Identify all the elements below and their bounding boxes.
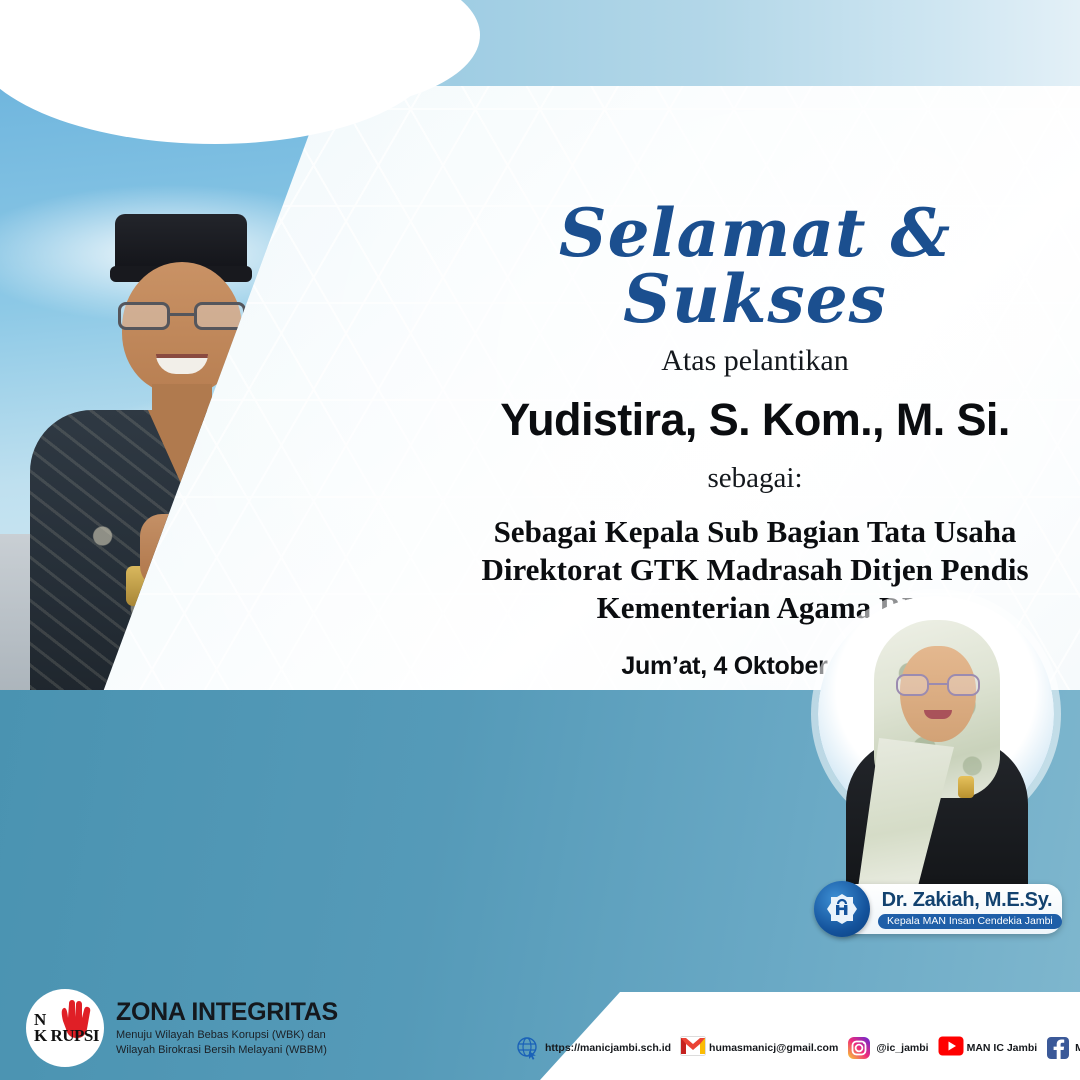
anti-korupsi-line-2: K RUPSI [34,1028,99,1044]
insan-cendekia-badge-icon [814,881,870,937]
position-line-2: Direktorat GTK Madrasah Ditjen Pendis [450,551,1060,589]
youtube-icon [938,1036,962,1060]
gmail-icon [680,1036,704,1060]
email-item[interactable]: humasmanicj@gmail.com [680,1036,838,1060]
zona-subtitle-line-1: Menuju Wilayah Bebas Korupsi (WBK) dan [116,1028,338,1043]
eyeglasses-icon [118,302,246,330]
website-label: https://manicjambi.sch.id [545,1042,671,1054]
zona-integritas-title: ZONA INTEGRITAS [116,998,338,1026]
subtitle-sebagai: sebagai: [450,462,1060,495]
position-line-1: Sebagai Kepala Sub Bagian Tata Usaha [450,513,1060,551]
subtitle-atas-pelantikan: Atas pelantikan [450,344,1060,378]
instagram-label: @ic_jambi [876,1042,928,1054]
facebook-item[interactable]: MAN IC JAMBI [1046,1036,1080,1060]
youtube-item[interactable]: MAN IC Jambi [938,1036,1038,1060]
principal-nameplate: Dr. Zakiah, M.E.Sy. Kepala MAN Insan Cen… [830,884,1062,934]
instagram-item[interactable]: @ic_jambi [847,1036,928,1060]
anti-korupsi-text: N K RUPSI [31,1012,99,1044]
poster-canvas: Kementerian Agama RI MAN Insan Cendekia … [0,0,1080,1080]
website-item[interactable]: https://manicjambi.sch.id [516,1036,671,1060]
facebook-icon [1046,1036,1070,1060]
principal-role: Kepala MAN Insan Cendekia Jambi [878,914,1062,929]
header-band [0,0,1080,86]
social-footer: https://manicjambi.sch.id humasmanicj@gm… [516,1026,1080,1070]
principal-name: Dr. Zakiah, M.E.Sy. [878,889,1056,911]
honoree-name: Yudistira, S. Kom., M. Si. [450,394,1060,446]
email-label: humasmanicj@gmail.com [709,1042,838,1054]
nameplate-text: Dr. Zakiah, M.E.Sy. Kepala MAN Insan Cen… [878,889,1056,929]
instagram-icon [847,1036,871,1060]
principal-eyeglasses-icon [896,674,980,696]
anti-korupsi-logo: N K RUPSI [26,989,104,1067]
zona-subtitle-line-2: Wilayah Birokrasi Bersih Melayani (WBBM) [116,1043,338,1058]
facebook-label: MAN IC JAMBI [1075,1042,1080,1054]
globe-icon [516,1036,540,1060]
zona-integritas-block: N K RUPSI ZONA INTEGRITAS Menuju Wilayah… [26,982,356,1074]
principal-portrait: Dr. Zakiah, M.E.Sy. Kepala MAN Insan Cen… [812,588,1060,940]
principal-figure [812,588,1060,888]
zona-integritas-subtitle: Menuju Wilayah Bebas Korupsi (WBK) dan W… [116,1028,338,1058]
zona-integritas-text: ZONA INTEGRITAS Menuju Wilayah Bebas Kor… [116,998,338,1058]
youtube-label: MAN IC Jambi [967,1042,1038,1054]
principal-lapel-pin [958,776,974,798]
script-title: Selamat & Sukses [450,200,1060,332]
